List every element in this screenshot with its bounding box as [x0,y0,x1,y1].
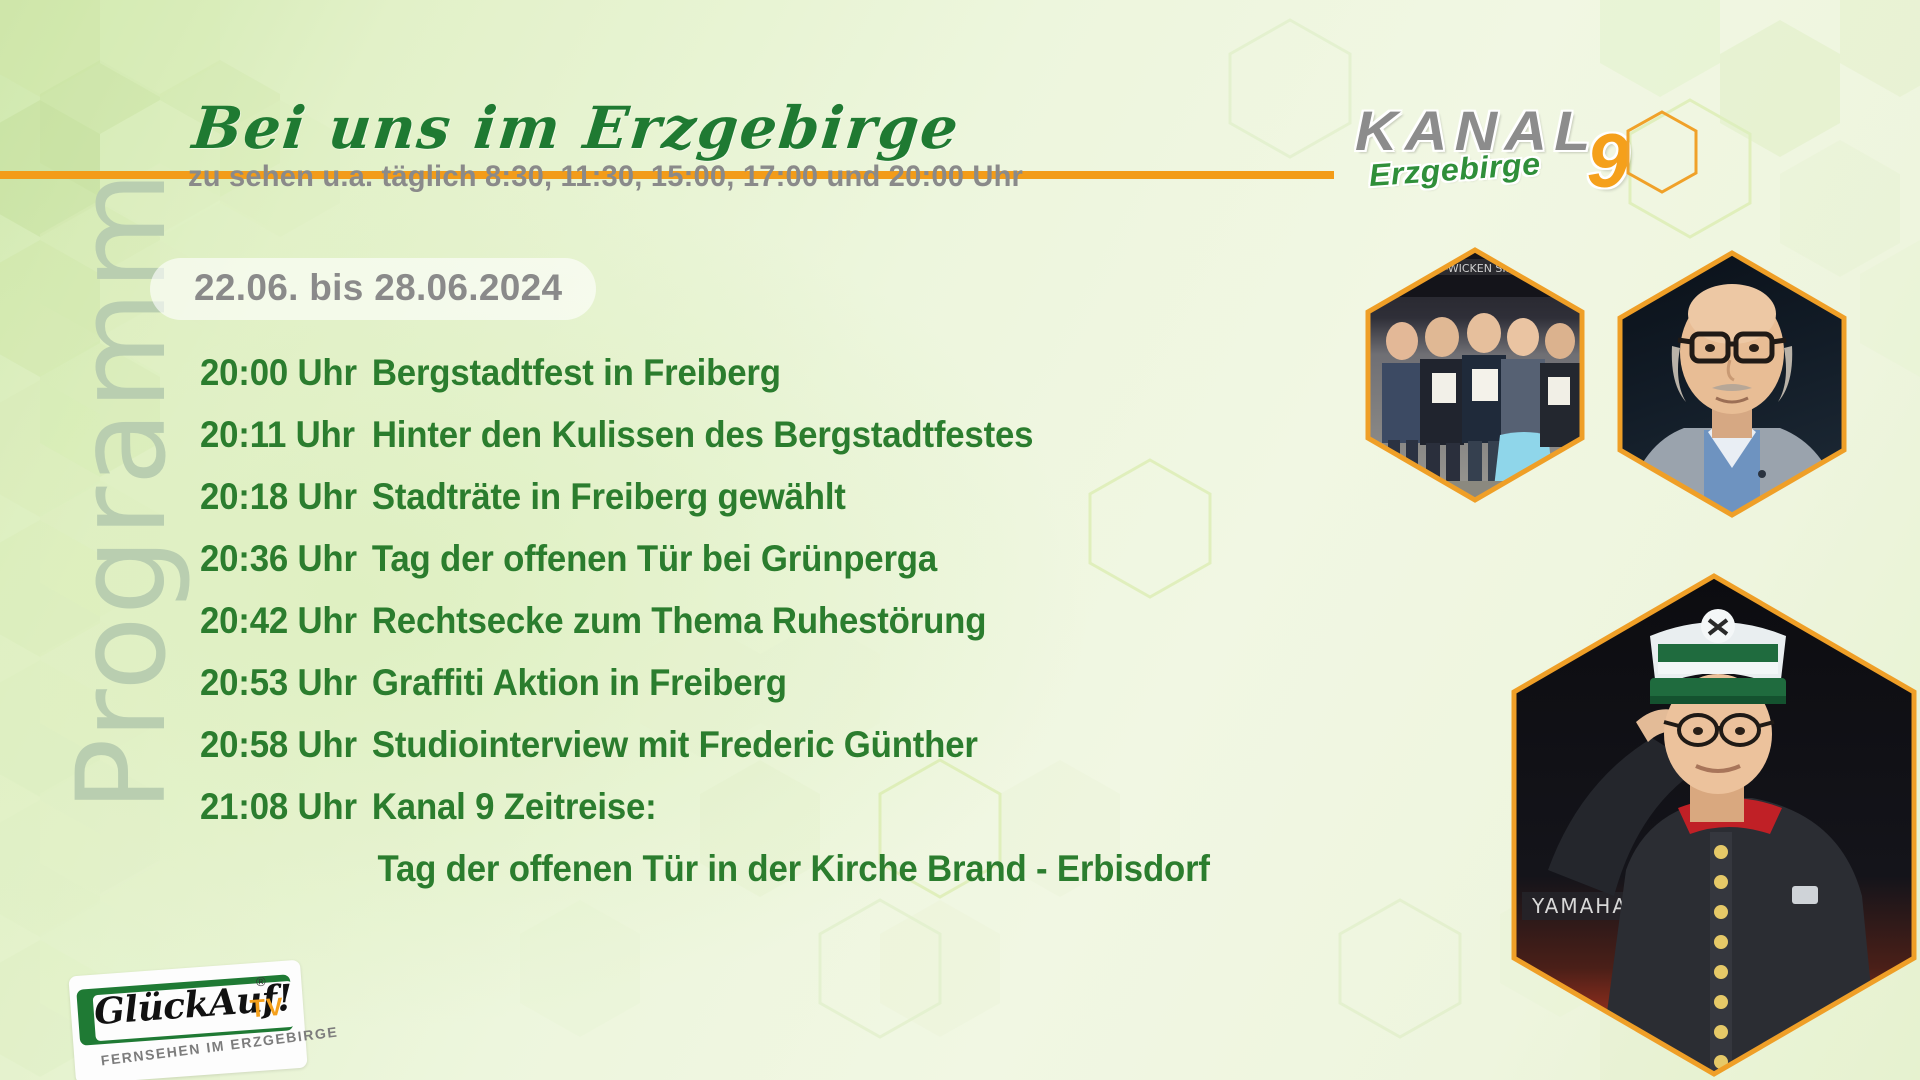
program-time: 20:11 Uhr [200,414,360,456]
program-title: Tag der offenen Tür bei Grünperga [370,538,937,580]
registered-trademark-icon: ® [255,974,266,990]
page-title: Bei uns im Erzgebirge [189,94,963,162]
program-row: 20:53 Uhr Graffiti Aktion in Freiberg [200,662,1260,724]
program-row: 21:08 Uhr Kanal 9 Zeitreise: [200,786,1260,848]
program-time: 20:58 Uhr [200,724,360,766]
program-row: 20:42 Uhr Rechtsecke zum Thema Ruhestöru… [200,600,1260,662]
program-time: 20:18 Uhr [200,476,360,518]
program-row: 20:00 Uhr Bergstadtfest in Freiberg [200,352,1260,414]
program-title: Graffiti Aktion in Freiberg [370,662,787,704]
program-time: 20:36 Uhr [200,538,360,580]
broadcast-times-subtitle: zu sehen u.a. täglich 8:30, 11:30, 15:00… [188,160,1023,194]
channel-number: 9 [1587,124,1629,200]
photo-hexagon-portrait-man [1612,248,1852,520]
program-title: Hinter den Kulissen des Bergstadtfestes [370,414,1033,456]
glueckauf-tv-logo: GlückAuf! TV ® FERNSEHEN IM ERZGEBIRGE [72,968,304,1076]
tv-suffix: TV [249,993,285,1024]
program-row: 20:18 Uhr Stadträte in Freiberg gewählt [200,476,1260,538]
program-row: 20:58 Uhr Studiointerview mit Frederic G… [200,724,1260,786]
program-row: 20:36 Uhr Tag der offenen Tür bei Grünpe… [200,538,1260,600]
programm-vertical-label: Programm [51,141,193,841]
program-time: 20:53 Uhr [200,662,360,704]
program-row-continuation: Tag der offenen Tür in der Kirche Brand … [200,848,1260,910]
photo-hexagon-group-award: A AUF -WICKEN SIND F [1360,245,1590,505]
program-title: Bergstadtfest in Freiberg [370,352,781,394]
orange-hexagon-outline-icon [1625,110,1699,194]
kanal9-logo: KANAL Erzgebirge 9 [1355,96,1625,206]
program-time: 20:42 Uhr [200,600,360,642]
program-title: Rechtsecke zum Thema Ruhestörung [370,600,986,642]
program-time: 21:08 Uhr [200,786,360,828]
date-range-badge: 22.06. bis 28.06.2024 [150,258,596,320]
program-row: 20:11 Uhr Hinter den Kulissen des Bergst… [200,414,1260,476]
broadcast-schedule-graphic: Programm Bei uns im Erzgebirge zu sehen … [0,0,1920,1080]
program-title: Stadträte in Freiberg gewählt [370,476,846,518]
program-time: 20:00 Uhr [200,352,360,394]
program-title: Tag der offenen Tür in der Kirche Brand … [370,848,1210,890]
program-schedule-list: 20:00 Uhr Bergstadtfest in Freiberg 20:1… [200,352,1260,910]
program-title: Kanal 9 Zeitreise: [370,786,657,828]
program-title: Studiointerview mit Frederic Günther [370,724,978,766]
svg-text:YAMAHA: YAMAHA [1531,894,1628,918]
photo-hexagon-miner-uniform: YAMAHA [1508,570,1920,1080]
